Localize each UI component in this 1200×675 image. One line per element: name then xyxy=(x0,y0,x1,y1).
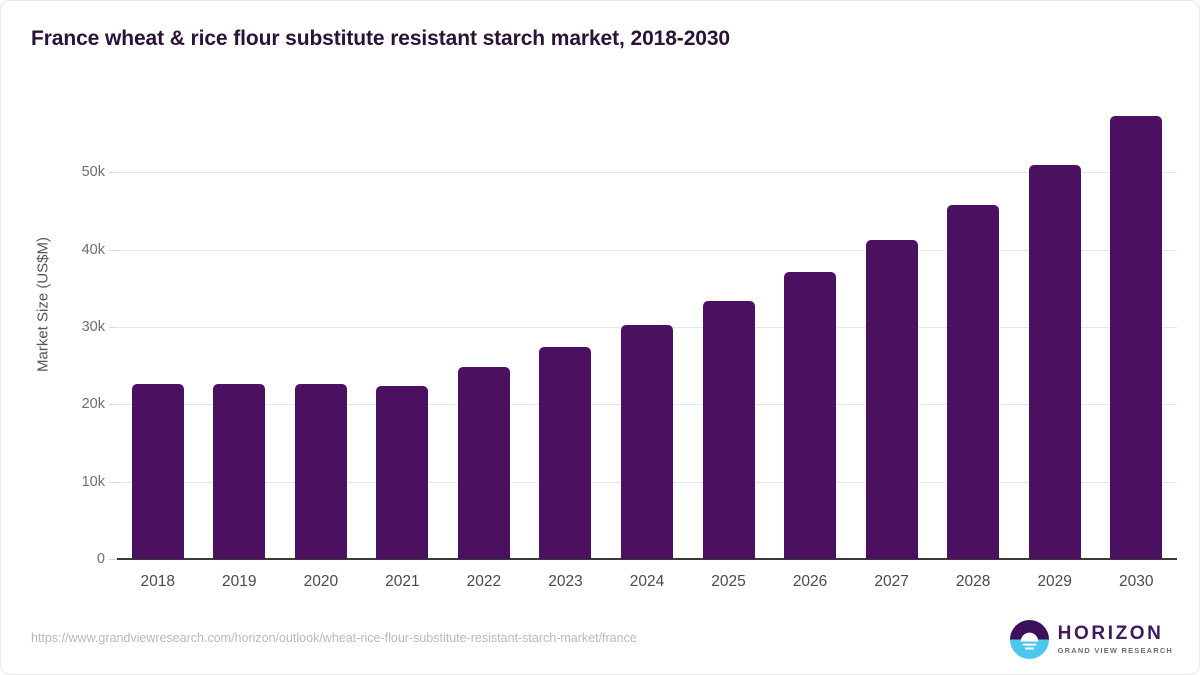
x-axis-tick-label: 2018 xyxy=(117,573,199,591)
bar[interactable] xyxy=(539,347,591,559)
bar[interactable] xyxy=(1029,165,1081,559)
x-axis-tick-label: 2030 xyxy=(1095,573,1177,591)
plot-area xyxy=(117,99,1177,559)
bar[interactable] xyxy=(1110,116,1162,559)
source-url[interactable]: https://www.grandviewresearch.com/horizo… xyxy=(31,631,637,645)
x-axis-tick-label: 2029 xyxy=(1014,573,1096,591)
y-axis-tick-label: 10k xyxy=(57,474,105,490)
logo-subtitle: GRAND VIEW RESEARCH xyxy=(1058,647,1173,654)
y-axis-tick-label: 30k xyxy=(57,319,105,335)
y-axis-tick-label: 0 xyxy=(57,551,105,567)
chart-card: France wheat & rice flour substitute res… xyxy=(0,0,1200,675)
y-axis-tick-mark xyxy=(109,482,117,483)
bar[interactable] xyxy=(947,205,999,559)
y-axis-tick-mark xyxy=(109,327,117,328)
logo-wordmark: HORIZON xyxy=(1058,624,1173,643)
x-axis-tick-label: 2027 xyxy=(851,573,933,591)
bar[interactable] xyxy=(866,240,918,559)
bar[interactable] xyxy=(132,384,184,559)
y-axis-title: Market Size (US$M) xyxy=(35,95,52,515)
y-axis-tick-label: 50k xyxy=(57,164,105,180)
y-axis-tick-mark xyxy=(109,250,117,251)
x-axis-tick-label: 2026 xyxy=(769,573,851,591)
y-axis-tick-label: 20k xyxy=(57,396,105,412)
bar[interactable] xyxy=(703,301,755,559)
bar-series xyxy=(117,99,1177,559)
x-axis-tick-group: 2018201920202021202220232024202520262027… xyxy=(117,573,1177,597)
bar[interactable] xyxy=(376,386,428,559)
y-axis-tick-mark xyxy=(109,172,117,173)
horizon-mark-icon xyxy=(1010,620,1049,659)
x-axis-tick-label: 2023 xyxy=(524,573,606,591)
bar[interactable] xyxy=(784,272,836,559)
y-axis-tick-label: 40k xyxy=(57,242,105,258)
x-axis-tick-label: 2022 xyxy=(443,573,525,591)
bar[interactable] xyxy=(458,367,510,560)
logo-text-block: HORIZON GRAND VIEW RESEARCH xyxy=(1058,624,1173,654)
y-axis-tick-mark xyxy=(109,559,117,560)
x-axis-tick-label: 2020 xyxy=(280,573,362,591)
horizon-logo[interactable]: HORIZON GRAND VIEW RESEARCH xyxy=(1010,619,1173,659)
chart-plot-wrapper: Market Size (US$M) 010k20k30k40k50k 2018… xyxy=(1,1,1200,675)
x-axis-tick-label: 2021 xyxy=(361,573,443,591)
bar[interactable] xyxy=(295,384,347,559)
x-axis-tick-label: 2025 xyxy=(688,573,770,591)
bar[interactable] xyxy=(621,325,673,559)
x-axis-tick-label: 2019 xyxy=(198,573,280,591)
x-axis-tick-label: 2028 xyxy=(932,573,1014,591)
bar[interactable] xyxy=(213,384,265,559)
x-axis-tick-label: 2024 xyxy=(606,573,688,591)
y-axis-tick-mark xyxy=(109,404,117,405)
